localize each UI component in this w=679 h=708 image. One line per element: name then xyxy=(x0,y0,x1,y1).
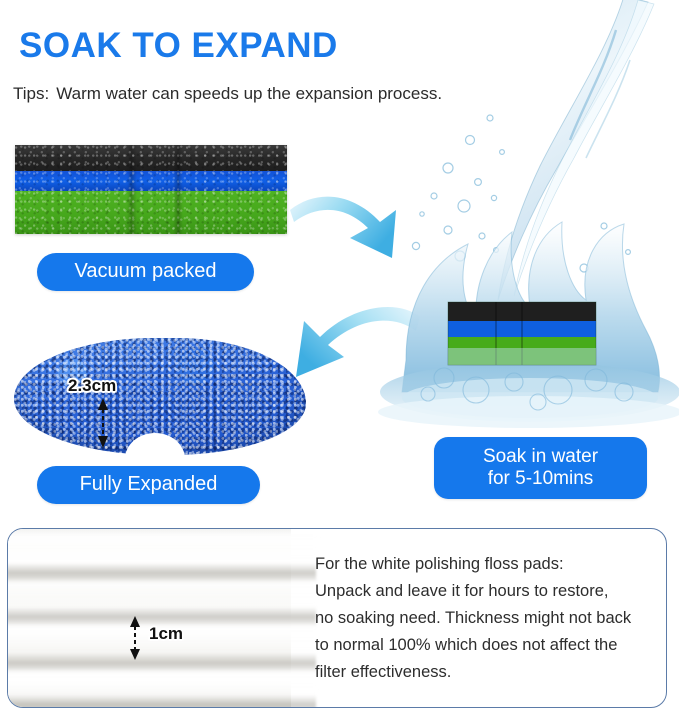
texture-overlay xyxy=(15,171,287,191)
instruction-line-5: filter effectiveness. xyxy=(315,659,651,686)
double-headed-vertical-arrow-icon xyxy=(96,398,110,453)
tips-label: Tips: xyxy=(13,84,49,103)
soak-label-line2: for 5-10mins xyxy=(488,468,594,490)
instruction-line-3: no soaking need. Thickness might not bac… xyxy=(315,605,651,632)
floss-pad-info-card: For the white polishing floss pads: Unpa… xyxy=(7,528,667,708)
pad-crease xyxy=(173,145,183,234)
texture-overlay xyxy=(15,145,287,171)
fully-expanded-label: Fully Expanded xyxy=(37,466,260,504)
pad-layer-blue xyxy=(15,171,287,191)
page-title: SOAK TO EXPAND xyxy=(19,26,338,66)
floss-thickness-value: 1cm xyxy=(149,624,183,644)
expanded-thickness-value: 2.3cm xyxy=(68,376,116,396)
white-floss-pads-image xyxy=(8,529,291,707)
instruction-line-2: Unpack and leave it for hours to restore… xyxy=(315,578,651,605)
floss-sheen xyxy=(7,533,318,563)
floss-pad-instructions: For the white polishing floss pads: Unpa… xyxy=(315,551,651,686)
pad-layer-green xyxy=(15,191,287,234)
texture-overlay xyxy=(15,191,287,234)
pad-layer-black xyxy=(15,145,287,171)
infographic-page: SOAK TO EXPAND Tips:Warm water can speed… xyxy=(0,0,679,697)
vacuum-packed-pad-image xyxy=(15,145,287,234)
water-splash-scene xyxy=(372,0,679,452)
instruction-line-1: For the white polishing floss pads: xyxy=(315,551,651,578)
pad-crease xyxy=(127,145,137,234)
instruction-line-4: to normal 100% which does not affect the xyxy=(315,632,651,659)
double-headed-vertical-arrow-icon xyxy=(128,616,142,665)
fully-expanded-sponge-image xyxy=(14,338,306,455)
submerged-pad xyxy=(448,302,596,365)
vacuum-packed-label: Vacuum packed xyxy=(37,253,254,291)
soak-in-water-label: Soak in water for 5-10mins xyxy=(434,437,647,499)
soak-label-line1: Soak in water xyxy=(483,446,598,468)
